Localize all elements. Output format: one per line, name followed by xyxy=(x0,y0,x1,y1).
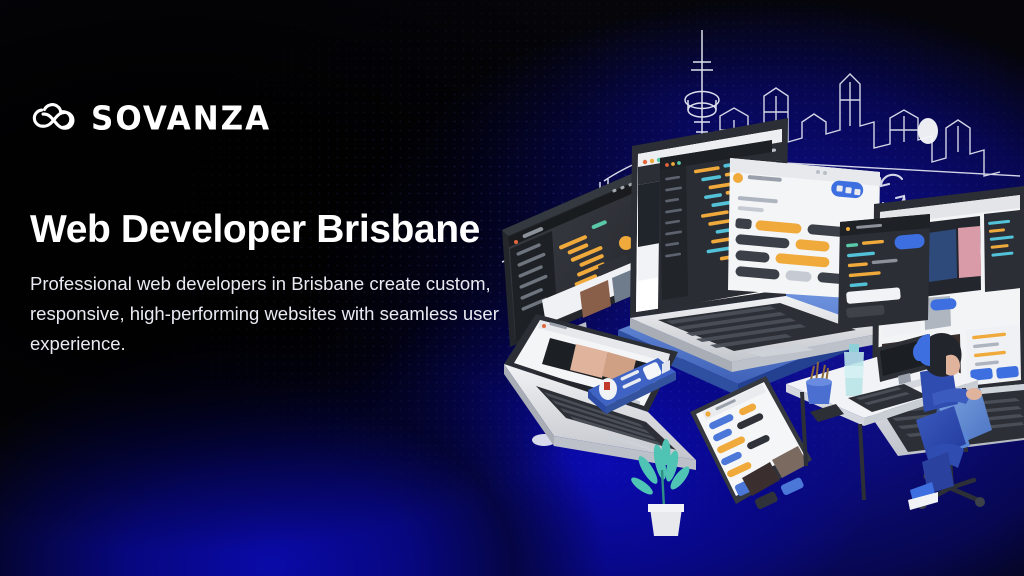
cloud-infinity-logo-icon xyxy=(30,100,80,138)
brand-wordmark: SOVANZA xyxy=(91,100,271,138)
hero-banner: SOVANZA Web Developer Brisbane Professio… xyxy=(0,0,1024,576)
hero-copy-block: SOVANZA Web Developer Brisbane Professio… xyxy=(30,96,510,359)
hero-description: Professional web developers in Brisbane … xyxy=(30,269,500,359)
tablet xyxy=(690,376,812,510)
brand-logo[interactable]: SOVANZA xyxy=(30,96,510,142)
moon xyxy=(918,118,938,144)
page-title: Web Developer Brisbane xyxy=(30,208,510,252)
floating-dark-panel xyxy=(838,214,930,330)
water-bottle-desk xyxy=(844,344,864,396)
pencil-cup xyxy=(806,362,832,404)
hero-illustration xyxy=(480,0,1024,576)
